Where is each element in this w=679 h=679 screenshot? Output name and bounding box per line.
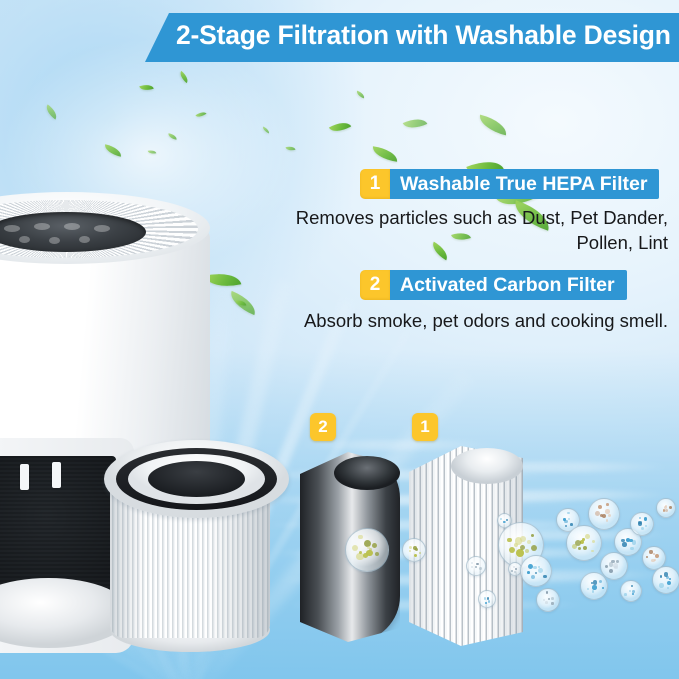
feature-2-heading: 2 Activated Carbon Filter xyxy=(360,270,627,300)
particle-cluster xyxy=(580,572,608,600)
particle-dot xyxy=(624,593,627,596)
particle-dot xyxy=(583,546,587,550)
cylindrical-pleated-filter xyxy=(104,440,294,652)
particle-dot xyxy=(479,567,482,570)
particle-cluster xyxy=(630,512,654,536)
particle-dot xyxy=(614,566,617,569)
cylinder-center-hole xyxy=(148,461,245,497)
particle-dot xyxy=(605,509,610,514)
particle-dot xyxy=(415,548,418,551)
particle-cluster xyxy=(497,513,512,528)
particle-dot xyxy=(565,525,567,527)
particle-dot xyxy=(363,553,368,558)
particle-dot xyxy=(419,552,421,554)
particle-dot xyxy=(375,552,379,556)
particle-dot xyxy=(516,549,524,557)
particle-dot xyxy=(352,545,358,551)
particle-dot xyxy=(358,535,362,539)
particle-dot xyxy=(511,570,513,572)
particle-dot xyxy=(568,518,570,520)
particle-dot xyxy=(525,549,529,553)
timer-button-icon xyxy=(64,223,80,230)
particle-dot xyxy=(503,521,505,523)
particle-dot xyxy=(575,540,581,546)
particle-dot xyxy=(475,566,477,568)
feature-2-heading-label: Activated Carbon Filter xyxy=(390,270,627,300)
particle-dot xyxy=(488,600,491,603)
particle-dot xyxy=(630,547,634,551)
particle-dot xyxy=(546,591,548,593)
particle-dot xyxy=(629,539,632,542)
particle-dot xyxy=(631,585,633,587)
particle-dot xyxy=(606,503,609,506)
particle-dot xyxy=(509,547,515,553)
particle-dot xyxy=(531,534,534,537)
power-button-icon xyxy=(4,225,20,232)
indicator-a-icon xyxy=(19,236,30,243)
callout-badge-2: 2 xyxy=(310,413,336,441)
hepa-panel-top-curl xyxy=(451,448,523,484)
particle-dot xyxy=(669,506,672,509)
particle-dot xyxy=(592,585,596,589)
particle-cluster xyxy=(656,498,676,518)
particle-dot xyxy=(621,539,624,542)
indicator-c-icon xyxy=(79,236,90,243)
particle-dot xyxy=(372,543,377,548)
particle-dot xyxy=(570,523,573,526)
filter-hook-right xyxy=(52,462,61,488)
particle-cluster xyxy=(588,498,620,530)
particle-dot xyxy=(667,581,671,585)
particle-dot xyxy=(535,572,537,574)
particle-dot xyxy=(471,562,473,564)
particle-cluster xyxy=(536,588,560,612)
particle-dot xyxy=(602,587,604,589)
particle-dot xyxy=(608,514,612,518)
particle-dot xyxy=(622,542,626,546)
feature-2-description: Absorb smoke, pet odors and cooking smel… xyxy=(240,308,668,333)
particle-dot xyxy=(600,514,603,517)
particle-dot xyxy=(645,525,647,527)
filter-hook-left xyxy=(20,464,29,490)
indicator-b-icon xyxy=(49,237,60,244)
particle-dot xyxy=(543,575,546,578)
particle-dot xyxy=(585,534,590,539)
particle-dot xyxy=(513,566,515,568)
particle-dot xyxy=(616,560,619,563)
particle-cluster xyxy=(620,580,642,602)
product-feature-image: 2-Stage Filtration with Washable Design … xyxy=(0,0,679,679)
particle-dot xyxy=(564,520,567,523)
particle-dot xyxy=(629,590,631,592)
particle-dot xyxy=(563,518,565,520)
particle-dot xyxy=(487,597,489,599)
feature-1-number-badge: 1 xyxy=(360,169,390,199)
particle-dot xyxy=(582,538,585,541)
particle-dot xyxy=(660,575,662,577)
particle-dot xyxy=(591,550,593,552)
particle-dot xyxy=(409,546,412,549)
feature-1-heading: 1 Washable True HEPA Filter xyxy=(360,169,659,199)
particle-dot xyxy=(592,540,596,544)
particle-cluster xyxy=(566,525,602,561)
particle-dot xyxy=(599,580,602,583)
light-button-icon xyxy=(94,225,110,232)
particle-dot xyxy=(609,569,613,573)
carbon-panel-top-curl xyxy=(334,456,400,490)
particle-cluster xyxy=(652,566,679,594)
particle-dot xyxy=(507,538,512,543)
particle-dot xyxy=(485,602,487,604)
air-purifier-unit xyxy=(0,182,210,482)
particle-cluster xyxy=(345,528,389,572)
banner-title: 2-Stage Filtration with Washable Design xyxy=(176,20,679,51)
particle-dot xyxy=(551,602,553,604)
particle-dot xyxy=(665,509,668,512)
particle-dot xyxy=(545,601,548,604)
particle-cluster xyxy=(478,590,496,608)
particle-dot xyxy=(514,571,516,573)
particle-dot xyxy=(664,572,668,576)
particle-dot xyxy=(527,540,531,544)
particle-dot xyxy=(567,512,570,515)
particle-dot xyxy=(548,598,550,600)
particle-dot xyxy=(476,563,478,565)
fan-speed-button-icon xyxy=(34,223,50,230)
feature-2-number-badge: 2 xyxy=(360,270,390,300)
particle-dot xyxy=(515,568,517,570)
particle-dot xyxy=(649,550,652,553)
particle-dot xyxy=(578,547,581,550)
particle-dot xyxy=(632,593,634,595)
particle-dot xyxy=(551,597,554,600)
particle-dot xyxy=(533,566,537,570)
particle-dot xyxy=(598,505,602,509)
particle-dot xyxy=(367,546,370,549)
feature-1-heading-label: Washable True HEPA Filter xyxy=(390,169,659,199)
particle-dot xyxy=(592,590,595,593)
particle-cluster xyxy=(402,538,426,562)
particle-dot xyxy=(663,509,666,512)
callout-badge-1: 1 xyxy=(412,413,438,441)
particle-dot xyxy=(638,521,641,524)
particle-dot xyxy=(506,519,508,521)
particle-dot xyxy=(644,517,648,521)
particle-dot xyxy=(527,571,530,574)
particle-dot xyxy=(520,536,526,542)
particle-dot xyxy=(639,517,641,519)
particle-dot xyxy=(484,597,486,599)
particle-dot xyxy=(646,556,648,558)
particle-dot xyxy=(520,545,525,550)
particle-dot xyxy=(471,566,474,569)
particle-dot xyxy=(651,559,655,563)
particle-dot xyxy=(606,519,608,521)
particle-dot xyxy=(531,545,538,552)
particle-dot xyxy=(641,527,644,530)
particle-dot xyxy=(667,587,669,589)
particle-dot xyxy=(409,550,411,552)
particle-dot xyxy=(587,588,589,590)
particle-dot xyxy=(500,518,502,520)
particle-cluster xyxy=(520,555,552,587)
feature-1-description: Removes particles such as Dust, Pet Dand… xyxy=(240,205,668,255)
particle-dot xyxy=(659,583,664,588)
particle-dot xyxy=(538,568,543,573)
particle-dot xyxy=(414,554,418,558)
particle-dot xyxy=(531,575,535,579)
particle-dot xyxy=(605,565,608,568)
particle-cluster xyxy=(466,556,486,576)
particle-dot xyxy=(655,554,659,558)
